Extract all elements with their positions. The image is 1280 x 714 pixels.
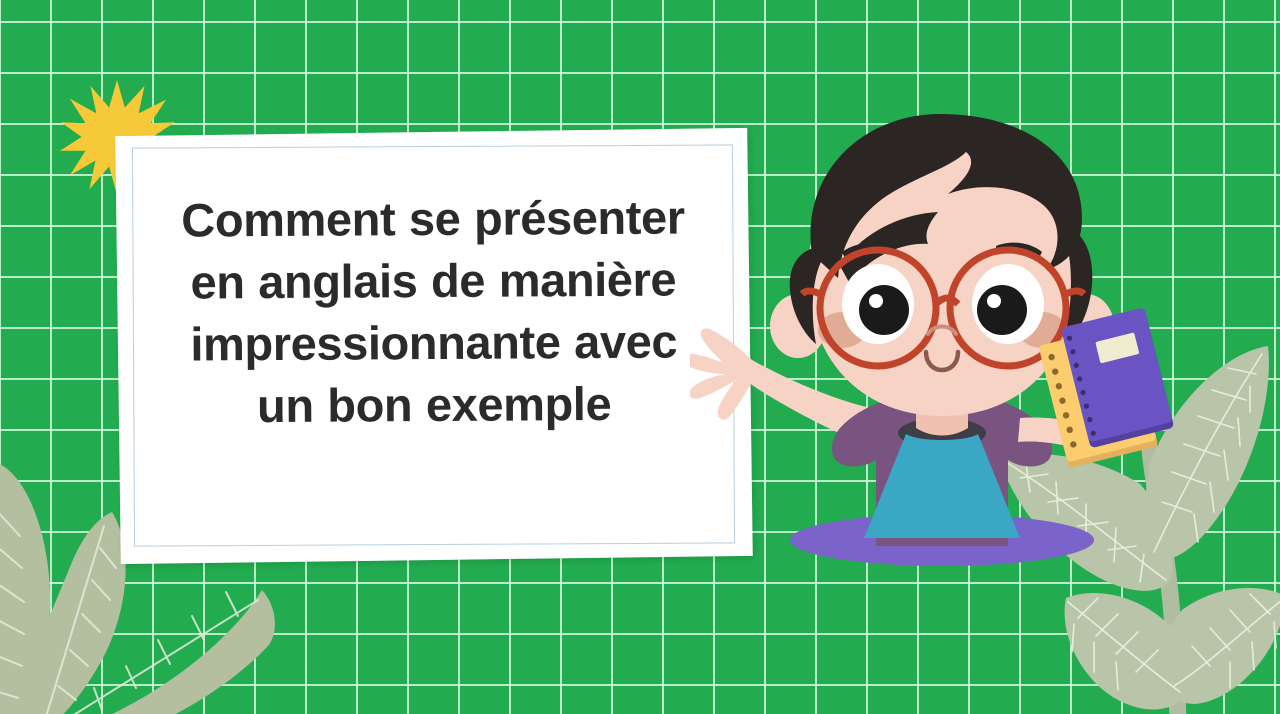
title-line-2: en anglais de manière (135, 248, 731, 314)
slide-canvas: Comment se présenter en anglais de maniè… (0, 0, 1280, 714)
boy-student-illustration (690, 108, 1190, 578)
title-line-3: impressionnante avec (136, 310, 732, 376)
title-line-1: Comment se présenter (135, 186, 731, 252)
eye-right (972, 264, 1044, 344)
eye-left (842, 264, 914, 344)
page-title: Comment se présenter en anglais de maniè… (117, 186, 751, 438)
title-line-4: un bon exemple (136, 372, 732, 438)
title-card: Comment se présenter en anglais de maniè… (115, 128, 753, 564)
